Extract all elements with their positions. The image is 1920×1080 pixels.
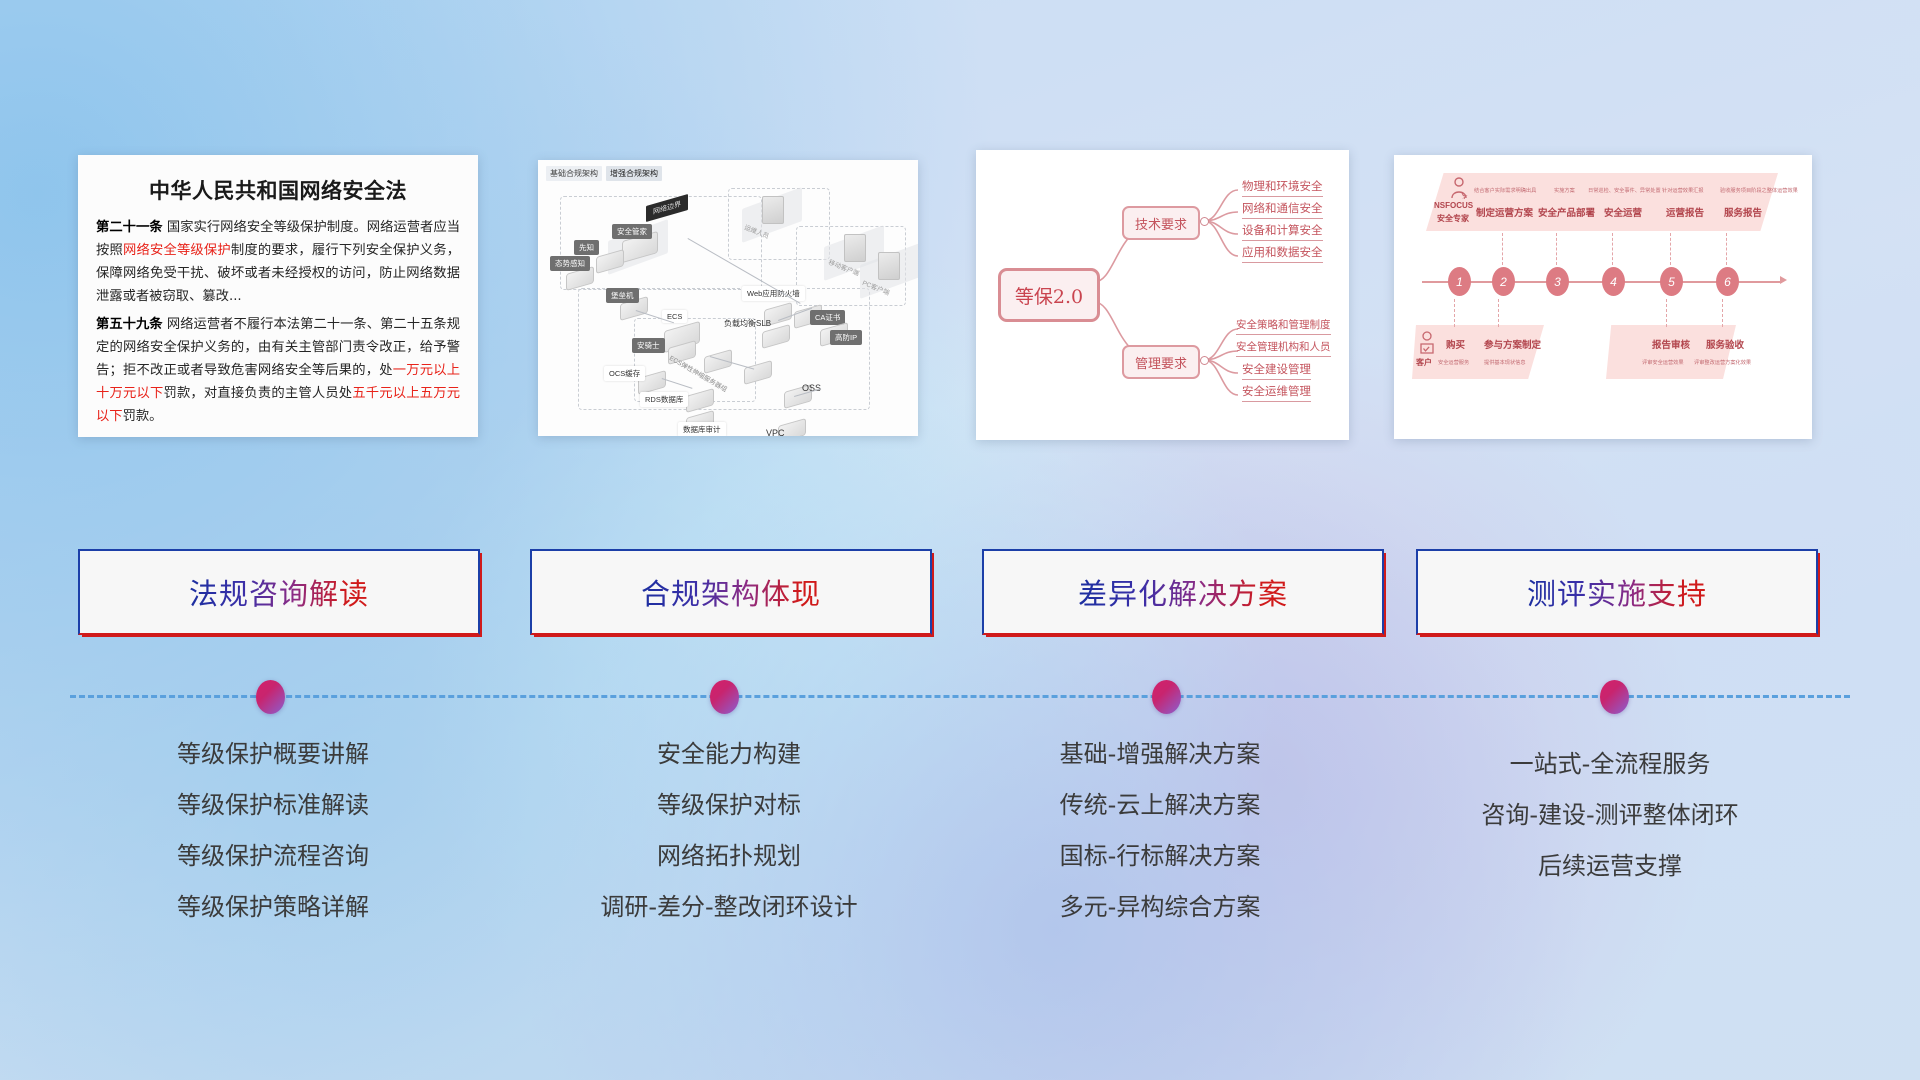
list-item: 国标-行标解决方案 — [950, 844, 1370, 868]
article-59-text-c: 罚款。 — [123, 409, 163, 424]
step-3-sub: 实施方案 — [1554, 187, 1575, 194]
timeline-dot-2[interactable] — [710, 680, 739, 714]
list-item: 等级保护策略详解 — [63, 895, 483, 919]
customer-step-2-sub: 提供基本现状信息 — [1484, 359, 1526, 366]
node-bastion-host: 堡垒机 — [606, 288, 639, 303]
mindmap-leaf-ops-mgmt: 安全运维管理 — [1242, 383, 1311, 402]
timeline-arrow-icon — [1780, 276, 1787, 284]
mindmap-leaf-app-data: 应用和数据安全 — [1242, 244, 1323, 263]
connector-6 — [1726, 233, 1728, 265]
node-situational-awareness: 态势感知 — [550, 256, 590, 271]
timeline-node-4[interactable]: 4 — [1602, 267, 1625, 296]
node-security-butler: 安全管家 — [612, 224, 652, 239]
timeline-node-6[interactable]: 6 — [1716, 267, 1739, 296]
customer-step-2-title: 参与方案制定 — [1484, 337, 1541, 351]
collapse-icon-technical[interactable] — [1200, 217, 1209, 226]
connector-3 — [1556, 233, 1558, 265]
article-21-label: 第二十一条 — [96, 220, 163, 235]
card-mindmap[interactable]: 等保2.0 技术要求 物理和环境安全 网络和通信安全 设备和计算安全 应用和数据… — [976, 150, 1349, 440]
connector-4 — [1612, 233, 1614, 265]
list-column-1: 等级保护概要讲解 等级保护标准解读 等级保护流程咨询 等级保护策略详解 — [63, 742, 483, 946]
headline-label-3: 差异化解决方案 — [1078, 571, 1288, 613]
list-item: 安全能力构建 — [519, 742, 939, 766]
law-document-body: 中华人民共和国网络安全法 第二十一条 国家实行网络安全等级保护制度。网络运营者应… — [78, 155, 478, 437]
card-service-timeline[interactable]: NSFOCUS 安全专家 客户 结合客户实际需求明确出具 制定运营方案 实施方案… — [1394, 155, 1812, 439]
list-item: 等级保护概要讲解 — [63, 742, 483, 766]
law-article-21: 第二十一条 国家实行网络安全等级保护制度。网络运营者应当按照网络安全等级保护制度… — [96, 217, 460, 308]
expert-person-icon — [1449, 177, 1469, 199]
customer-step-4-sub: 评审整改运营方案化效果 — [1694, 359, 1751, 366]
timeline-node-5[interactable]: 5 — [1660, 267, 1683, 296]
architecture-diagram: 基础合规架构 增强合规架构 网络边界 安全管家 先知 态势感知 堡垒机 — [538, 160, 918, 436]
node-vpc: VPC — [766, 428, 785, 436]
headline-box-differentiated-solution[interactable]: 差异化解决方案 — [982, 549, 1384, 635]
article-59-text-b: 罚款，对直接负责的主管人员处 — [163, 386, 352, 401]
article-59-label: 第五十九条 — [96, 317, 163, 332]
connector-c2 — [1498, 299, 1500, 327]
list-item: 网络拓扑规划 — [519, 844, 939, 868]
headline-box-regulation-consulting[interactable]: 法规咨询解读 — [78, 549, 480, 635]
customer-step-4-title: 服务验收 — [1706, 337, 1744, 351]
customer-band-right — [1606, 325, 1736, 379]
timeline-node-1[interactable]: 1 — [1448, 267, 1471, 296]
node-ocs-cache: OCS缓存 — [604, 366, 645, 381]
law-title: 中华人民共和国网络安全法 — [96, 175, 460, 205]
timeline-dot-3[interactable] — [1152, 680, 1181, 714]
step-2-sub: 结合客户实际需求明确出具 — [1474, 187, 1536, 194]
list-column-2: 安全能力构建 等级保护对标 网络拓扑规划 调研-差分-整改闭环设计 — [519, 742, 939, 946]
mindmap-leaf-security-policy: 安全策略和管理制度 — [1236, 317, 1331, 335]
list-item: 等级保护对标 — [519, 793, 939, 817]
mindmap-branch-management[interactable]: 管理要求 — [1122, 345, 1200, 379]
step-5-sub: 针对运营效果汇报 — [1662, 187, 1704, 194]
list-item: 多元-异构综合方案 — [950, 895, 1370, 919]
step-6-title: 服务报告 — [1724, 205, 1762, 219]
mindmap-leaf-device-compute: 设备和计算安全 — [1242, 222, 1323, 241]
list-item: 等级保护标准解读 — [63, 793, 483, 817]
customer-person-icon — [1418, 331, 1436, 355]
mindmap-leaf-physical-env: 物理和环境安全 — [1242, 178, 1323, 197]
step-6-sub: 验收服务项目阶段之整体运营效果 — [1720, 187, 1798, 194]
list-column-3: 基础-增强解决方案 传统-云上解决方案 国标-行标解决方案 多元-异构综合方案 — [950, 742, 1370, 946]
headline-label-4: 测评实施支持 — [1527, 571, 1707, 613]
list-item: 等级保护流程咨询 — [63, 844, 483, 868]
connector-c4 — [1722, 299, 1724, 327]
node-db-audit: 数据库审计 — [678, 422, 726, 436]
list-item: 后续运营支撑 — [1400, 854, 1820, 878]
connector-c3 — [1666, 299, 1668, 327]
card-cloud-architecture[interactable]: 基础合规架构 增强合规架构 网络边界 安全管家 先知 态势感知 堡垒机 — [538, 160, 918, 436]
law-article-59: 第五十九条 网络运营者不履行本法第二十一条、第二十五条规定的网络安全保护义务的，… — [96, 314, 460, 428]
mindmap-leaf-construction-mgmt: 安全建设管理 — [1242, 361, 1311, 380]
step-5-title: 运营报告 — [1666, 205, 1704, 219]
vendor-role-line1: NSFOCUS — [1434, 201, 1473, 210]
service-timeline-diagram: NSFOCUS 安全专家 客户 结合客户实际需求明确出具 制定运营方案 实施方案… — [1394, 155, 1812, 439]
article-21-highlight: 网络安全等级保护 — [123, 243, 231, 258]
node-ca-certificate: CA证书 — [810, 310, 845, 325]
list-item: 基础-增强解决方案 — [950, 742, 1370, 766]
mindmap-diagram: 等保2.0 技术要求 物理和环境安全 网络和通信安全 设备和计算安全 应用和数据… — [976, 150, 1349, 440]
node-anqishi: 安骑士 — [632, 338, 665, 353]
list-item: 咨询-建设-测评整体闭环 — [1400, 803, 1820, 827]
step-2-title: 制定运营方案 — [1476, 205, 1533, 219]
customer-step-1-sub: 安全运营服务 — [1438, 359, 1469, 366]
customer-step-3-sub: 评审安全运营效果 — [1642, 359, 1684, 366]
node-rds-database: RDS数据库 — [640, 392, 688, 407]
mindmap-branch-technical[interactable]: 技术要求 — [1122, 206, 1200, 240]
step-4-sub: 日常巡检、安全事件、异常处置 — [1588, 187, 1661, 194]
vendor-role-line2: 安全专家 — [1437, 213, 1469, 224]
mindmap-root-node[interactable]: 等保2.0 — [998, 268, 1100, 322]
timeline-dot-4[interactable] — [1600, 680, 1629, 714]
timeline-node-3[interactable]: 3 — [1546, 267, 1569, 296]
headline-label-1: 法规咨询解读 — [189, 571, 369, 613]
headline-label-2: 合规架构体现 — [641, 571, 821, 613]
connector-5 — [1670, 233, 1672, 265]
mindmap-leaf-org-personnel: 安全管理机构和人员 — [1236, 339, 1331, 357]
headline-box-assessment-support[interactable]: 测评实施支持 — [1416, 549, 1818, 635]
mindmap-leaf-network-comm: 网络和通信安全 — [1242, 200, 1323, 219]
step-3-title: 安全产品部署 — [1538, 205, 1595, 219]
connector-c1 — [1454, 299, 1456, 327]
customer-step-1-title: 购买 — [1446, 337, 1465, 351]
connector-2 — [1502, 233, 1504, 265]
customer-step-3-title: 报告审核 — [1652, 337, 1690, 351]
timeline-node-2[interactable]: 2 — [1492, 267, 1515, 296]
list-column-4: 一站式-全流程服务 咨询-建设-测评整体闭环 后续运营支撑 — [1400, 752, 1820, 905]
vendor-band — [1426, 173, 1778, 231]
node-slb: 负载均衡SLB — [724, 318, 771, 329]
node-anti-ddos-ip: 高防IP — [830, 330, 862, 345]
node-xianzhi: 先知 — [574, 240, 599, 255]
timeline-dot-1[interactable] — [256, 680, 285, 714]
timeline-dashed-line — [70, 695, 1850, 698]
list-item: 传统-云上解决方案 — [950, 793, 1370, 817]
customer-role-label: 客户 — [1416, 357, 1432, 368]
card-law-document[interactable]: 中华人民共和国网络安全法 第二十一条 国家实行网络安全等级保护制度。网络运营者应… — [78, 155, 478, 437]
list-item: 一站式-全流程服务 — [1400, 752, 1820, 776]
headline-box-compliance-architecture[interactable]: 合规架构体现 — [530, 549, 932, 635]
collapse-icon-management[interactable] — [1200, 356, 1209, 365]
list-item: 调研-差分-整改闭环设计 — [519, 895, 939, 919]
step-4-title: 安全运营 — [1604, 205, 1642, 219]
architecture-canvas: 网络边界 安全管家 先知 态势感知 堡垒机 ECS 安骑士 ECS弹性伸缩服务器… — [538, 178, 918, 436]
